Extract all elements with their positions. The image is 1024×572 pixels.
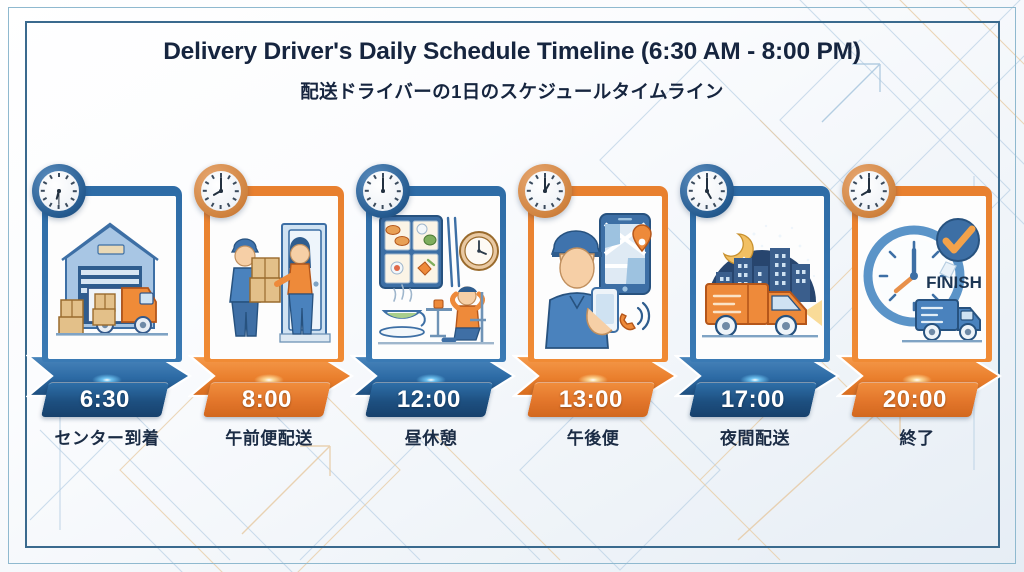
- time-badge[interactable]: 13:00: [527, 382, 655, 417]
- time-badge-label: 20:00: [855, 383, 975, 417]
- step-caption: 夜間配送: [668, 424, 842, 449]
- time-badge-label: 6:30: [45, 383, 165, 417]
- page-subtitle: 配送ドライバーの1日のスケジュールタイムライン: [0, 78, 1024, 104]
- time-badge-label: 13:00: [531, 383, 651, 417]
- scene-night-delivery: [696, 196, 824, 359]
- time-badge[interactable]: 20:00: [851, 382, 979, 417]
- clock-icon: [356, 164, 410, 218]
- clock-icon: [842, 164, 896, 218]
- timeline-step[interactable]: FINISH: [836, 160, 998, 460]
- clock-icon: [194, 164, 248, 218]
- step-caption: 昼休憩: [344, 424, 518, 449]
- scene-warehouse-loading-dock: [48, 196, 176, 359]
- finish-label: FINISH: [926, 273, 982, 292]
- time-badge-label: 17:00: [693, 383, 813, 417]
- time-badge[interactable]: 6:30: [41, 382, 169, 417]
- time-badge-label: 12:00: [369, 383, 489, 417]
- infographic-canvas: Delivery Driver's Daily Schedule Timelin…: [0, 0, 1024, 572]
- step-caption: 午前便配送: [182, 424, 356, 449]
- scene-lunch-break: [372, 196, 500, 359]
- timeline-step[interactable]: 17:00 夜間配送: [674, 160, 836, 460]
- page-title: Delivery Driver's Daily Schedule Timelin…: [0, 38, 1024, 66]
- clock-icon: [32, 164, 86, 218]
- time-badge[interactable]: 8:00: [203, 382, 331, 417]
- timeline-step[interactable]: 13:00 午後便: [512, 160, 674, 460]
- timeline: 6:30 センター到着: [26, 160, 998, 460]
- time-badge[interactable]: 17:00: [689, 382, 817, 417]
- scene-doorstep-handoff: [210, 196, 338, 359]
- timeline-step[interactable]: 8:00 午前便配送: [188, 160, 350, 460]
- timeline-step[interactable]: 6:30 センター到着: [26, 160, 188, 460]
- clock-icon: [680, 164, 734, 218]
- header: Delivery Driver's Daily Schedule Timelin…: [0, 38, 1024, 104]
- scene-driver-navigation: [534, 196, 662, 359]
- time-badge[interactable]: 12:00: [365, 382, 493, 417]
- step-caption: 午後便: [506, 424, 680, 449]
- step-caption: 終了: [830, 424, 1004, 449]
- time-badge-label: 8:00: [207, 383, 327, 417]
- scene-shift-complete: FINISH: [858, 196, 986, 359]
- clock-icon: [518, 164, 572, 218]
- timeline-step[interactable]: 12:00 昼休憩: [350, 160, 512, 460]
- step-caption: センター到着: [20, 424, 194, 449]
